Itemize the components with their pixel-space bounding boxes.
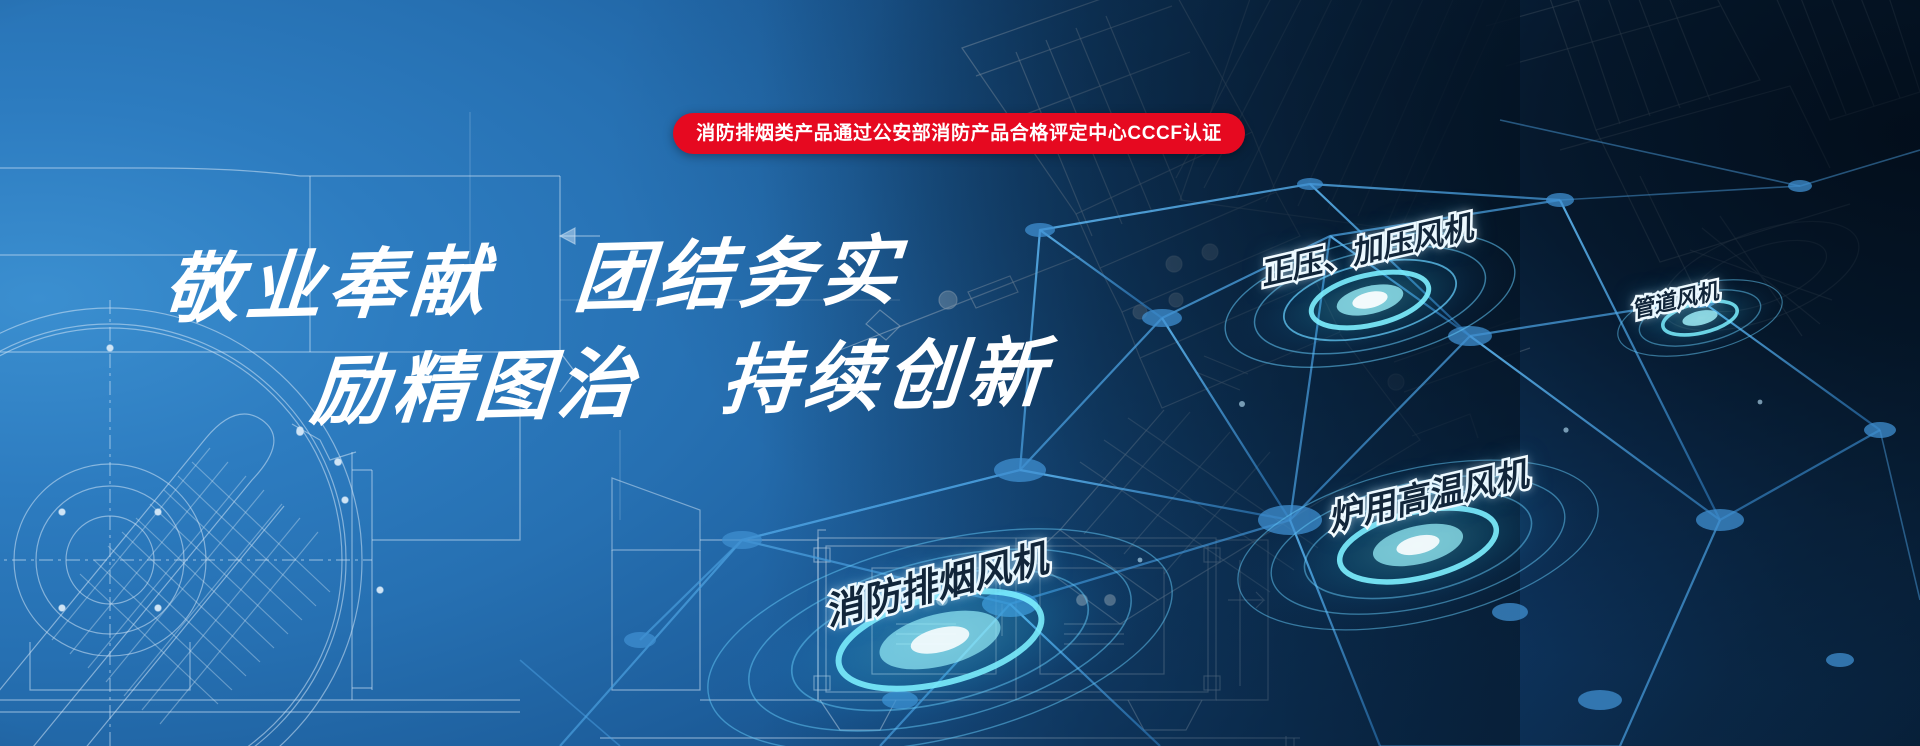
network-layer: [0, 0, 1920, 746]
certification-banner-text: 消防排烟类产品通过公安部消防产品合格评定中心CCCF认证: [696, 124, 1222, 143]
ripple-furnace: [1219, 427, 1617, 663]
certification-banner[interactable]: 消防排烟类产品通过公安部消防产品合格评定中心CCCF认证: [673, 113, 1245, 154]
hero-banner: 敬业奉献 团结务实 励精图治 持续创新 正压、加压风机 管道风机 炉用高温风机 …: [0, 0, 1920, 746]
